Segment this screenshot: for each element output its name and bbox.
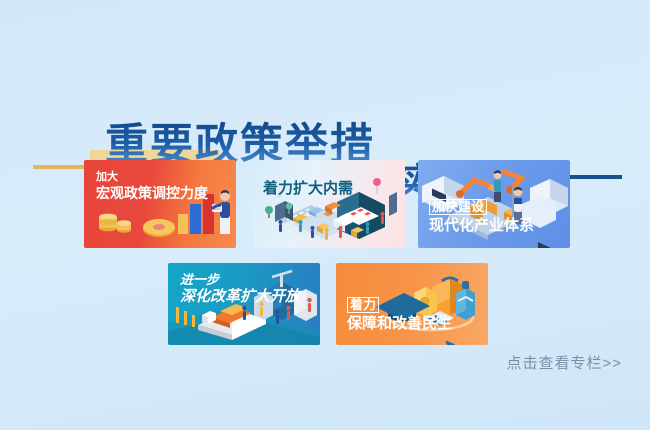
card-1-label-top: 加大 bbox=[96, 171, 208, 185]
isometric-retail-city-icon bbox=[253, 160, 405, 248]
card-3-label-main: 现代化产业体系 bbox=[429, 217, 534, 236]
card-5-label: 着力 保障和改善民生 bbox=[347, 297, 452, 334]
card-4-label-main: 深化改革扩大开放 bbox=[180, 288, 300, 307]
policy-card-livelihood[interactable]: 着力 保障和改善民生 bbox=[336, 263, 488, 345]
card-3-label-top-text: 加快建设 bbox=[429, 199, 487, 215]
card-5-label-main: 保障和改善民生 bbox=[347, 315, 452, 334]
policy-card-reform-opening[interactable]: 进一步 深化改革扩大开放 bbox=[168, 263, 320, 345]
policy-card-macro-regulation[interactable]: 加大 宏观政策调控力度 bbox=[84, 160, 236, 248]
policy-card-modern-industry[interactable]: 加快建设 现代化产业体系 bbox=[418, 160, 570, 248]
card-2-label: 着力扩大内需 bbox=[263, 180, 353, 199]
card-2-label-main: 着力扩大内需 bbox=[263, 180, 353, 199]
card-5-label-top-text: 着力 bbox=[347, 297, 379, 313]
view-column-link[interactable]: 点击查看专栏>> bbox=[506, 352, 622, 373]
card-3-label: 加快建设 现代化产业体系 bbox=[429, 199, 534, 236]
card-3-label-top: 加快建设 bbox=[429, 199, 534, 215]
card-1-label-main: 宏观政策调控力度 bbox=[96, 185, 208, 203]
card-4-label-top: 进一步 bbox=[180, 272, 300, 288]
policy-banner: 重要政策举措 及实施效果 bbox=[0, 0, 650, 430]
card-1-label: 加大 宏观政策调控力度 bbox=[96, 171, 208, 202]
title-block: 重要政策举措 及实施效果 bbox=[0, 52, 650, 142]
policy-card-expand-demand[interactable]: 着力扩大内需 bbox=[253, 160, 405, 248]
card-5-label-top: 着力 bbox=[347, 297, 452, 313]
card-4-label: 进一步 深化改革扩大开放 bbox=[180, 272, 300, 307]
